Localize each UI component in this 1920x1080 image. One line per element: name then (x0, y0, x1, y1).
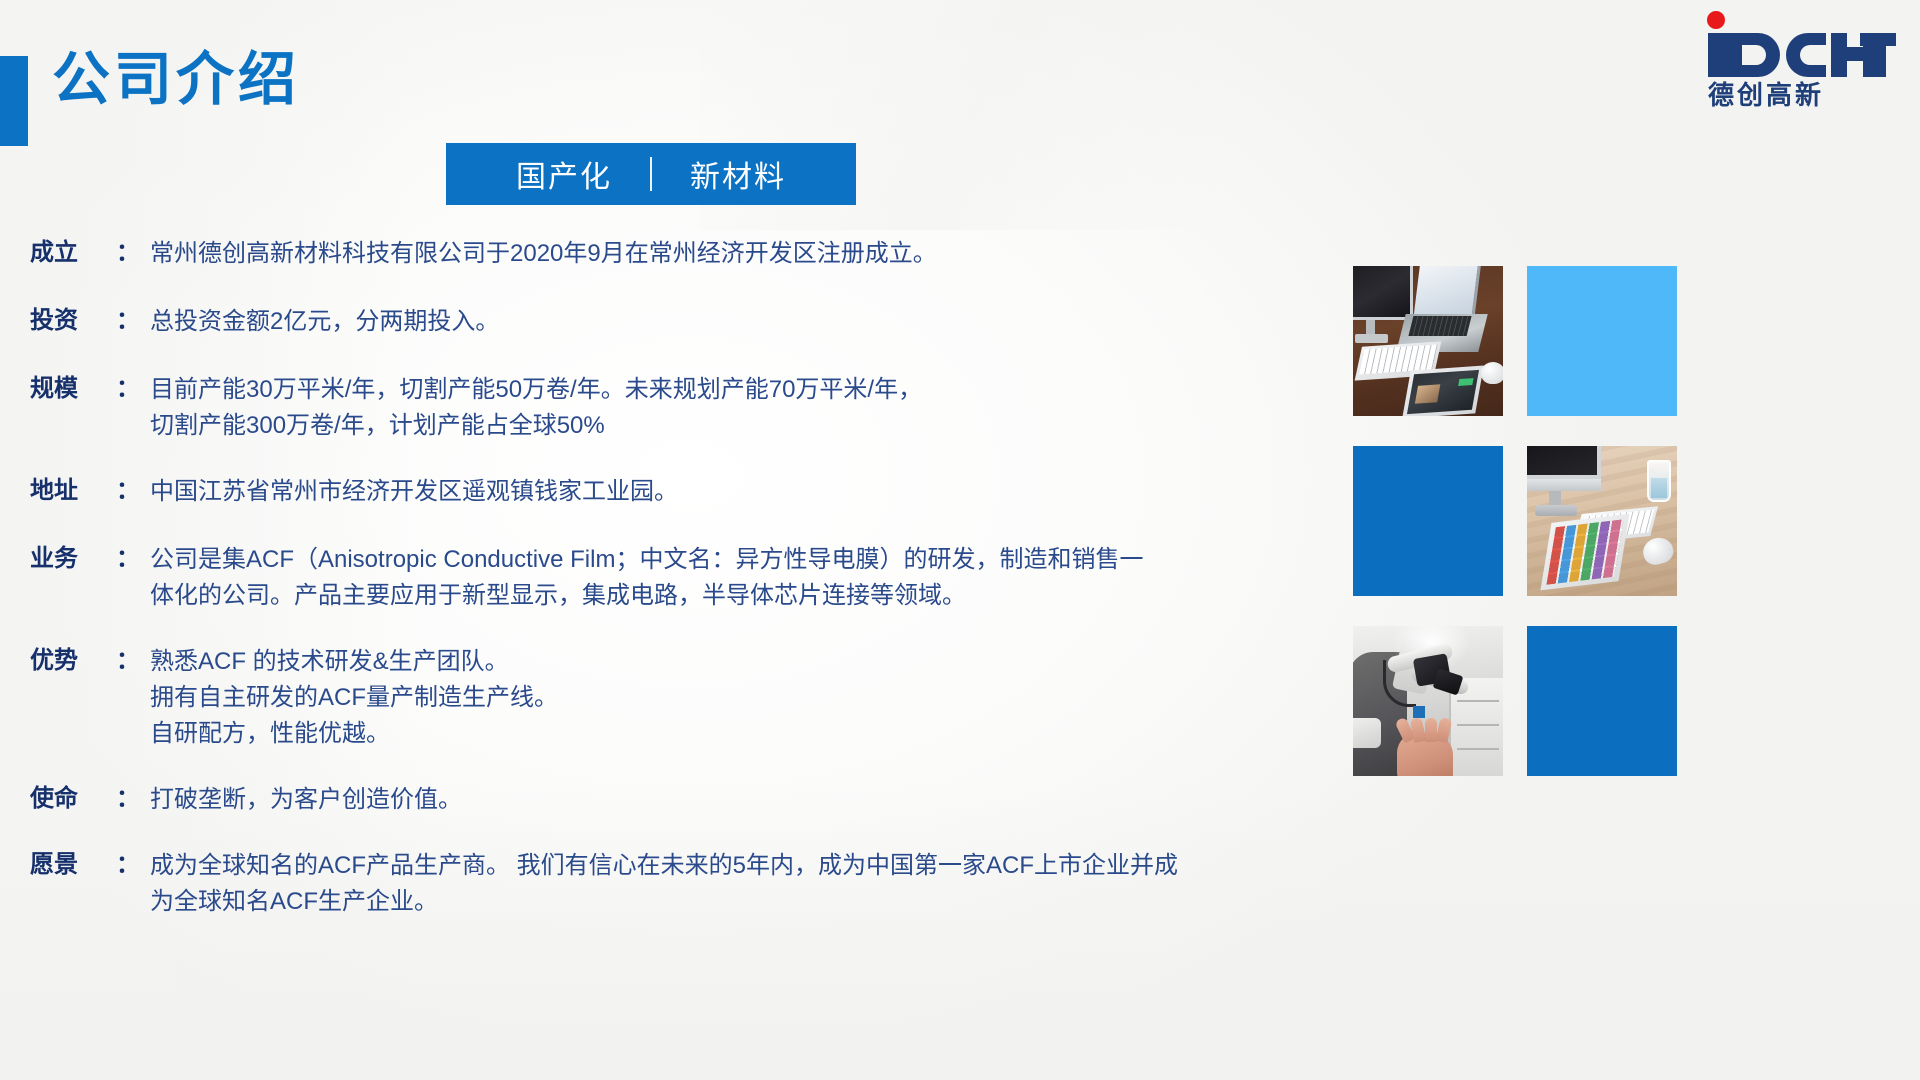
dcht-logo-icon: 德创高新 (1700, 4, 1896, 112)
desk-imac-laptop-tablet-photo (1353, 266, 1503, 416)
tablet-icon (1540, 514, 1629, 591)
info-row-colon: ： (116, 782, 150, 816)
info-row-mission: 使命 ： 打破垄断，为客户创造价值。 (30, 782, 1090, 818)
decor (1353, 718, 1381, 748)
decor (1415, 384, 1441, 403)
info-row-line: 总投资金额2亿元，分两期投入。 (150, 304, 1090, 340)
info-row-line: 拥有自主研发的ACF量产制造生产线。 (150, 680, 1090, 716)
light-blue-block (1527, 266, 1677, 416)
decor (1409, 316, 1472, 336)
info-row-colon: ： (116, 542, 150, 576)
info-row-body: 成为全球知名的ACF产品生产商。 我们有信心在未来的5年内，成为中国第一家ACF… (150, 848, 1178, 920)
water-glass-icon (1647, 460, 1671, 502)
info-row-body: 总投资金额2亿元，分两期投入。 (150, 304, 1090, 340)
info-row-line: 自研配方，性能优越。 (150, 716, 1090, 752)
decor (1458, 378, 1473, 386)
laptop-icon (1414, 266, 1482, 316)
tag-banner-right-label: 新材料 (652, 152, 824, 196)
dark-blue-block (1353, 446, 1503, 596)
info-row-body: 公司是集ACF（Anisotropic Conductive Film；中文名：… (150, 542, 1143, 614)
info-row-label: 地址 (30, 474, 116, 508)
info-row-label: 成立 (30, 236, 116, 270)
info-row-line: 打破垄断，为客户创造价值。 (150, 782, 1090, 818)
page-title: 公司介绍 (52, 48, 300, 112)
info-row-line: 切割产能300万卷/年，计划产能占全球50% (150, 408, 1090, 444)
tag-banner: 国产化 新材料 (446, 143, 856, 205)
decor (1535, 505, 1577, 516)
info-row-founding: 成立 ： 常州德创高新材料科技有限公司于2020年9月在常州经济开发区注册成立。 (30, 236, 1090, 272)
info-row-line: 成为全球知名的ACF产品生产商。 我们有信心在未来的5年内，成为中国第一家ACF… (150, 848, 1178, 884)
info-row-label: 愿景 (30, 848, 116, 882)
info-row-line: 中国江苏省常州市经济开发区遥观镇钱家工业园。 (150, 474, 1090, 510)
info-row-vision: 愿景 ： 成为全球知名的ACF产品生产商。 我们有信心在未来的5年内，成为中国第… (30, 848, 1090, 920)
info-row-line: 目前产能30万平米/年，切割产能50万卷/年。未来规划产能70万平米/年， (150, 372, 1090, 408)
info-row-colon: ： (116, 474, 150, 508)
info-row-body: 打破垄断，为客户创造价值。 (150, 782, 1090, 818)
info-row-line: 公司是集ACF（Anisotropic Conductive Film；中文名：… (150, 542, 1143, 578)
info-row-business: 业务 ： 公司是集ACF（Anisotropic Conductive Film… (30, 542, 1090, 614)
mouse-icon (1481, 362, 1503, 384)
info-row-colon: ： (116, 236, 150, 270)
tag-banner-left-label: 国产化 (478, 152, 650, 196)
decor (1527, 479, 1601, 491)
info-row-line: 熟悉ACF 的技术研发&生产团队。 (150, 644, 1090, 680)
info-row-body: 目前产能30万平米/年，切割产能50万卷/年。未来规划产能70万平米/年， 切割… (150, 372, 1090, 444)
info-row-label: 规模 (30, 372, 116, 406)
decor (1355, 334, 1388, 343)
info-row-advantages: 优势 ： 熟悉ACF 的技术研发&生产团队。 拥有自主研发的ACF量产制造生产线… (30, 644, 1090, 752)
hand-icon (1397, 732, 1453, 776)
logo-red-dot-icon (1707, 11, 1725, 29)
logo-subtext: 德创高新 (1708, 80, 1824, 110)
info-row-colon: ： (116, 644, 150, 678)
info-row-investment: 投资 ： 总投资金额2亿元，分两期投入。 (30, 304, 1090, 340)
tag-banner-separator (650, 157, 652, 191)
image-grid (1353, 266, 1853, 776)
info-row-line: 常州德创高新材料科技有限公司于2020年9月在常州经济开发区注册成立。 (150, 236, 1090, 272)
clinic-robotic-arm-hand-photo (1353, 626, 1503, 776)
imac-icon (1527, 446, 1601, 479)
info-row-label: 投资 (30, 304, 116, 338)
dark-blue-block (1527, 626, 1677, 776)
company-logo: 德创高新 (1700, 4, 1896, 112)
info-row-body: 熟悉ACF 的技术研发&生产团队。 拥有自主研发的ACF量产制造生产线。 自研配… (150, 644, 1090, 752)
tablet-icon (1402, 366, 1484, 416)
info-row-label: 使命 (30, 782, 116, 816)
decor (1413, 706, 1425, 718)
info-row-colon: ： (116, 372, 150, 406)
info-row-colon: ： (116, 304, 150, 338)
info-row-line: 体化的公司。产品主要应用于新型显示，集成电路，半导体芯片连接等领域。 (150, 578, 1143, 614)
info-row-address: 地址 ： 中国江苏省常州市经济开发区遥观镇钱家工业园。 (30, 474, 1090, 510)
info-row-label: 优势 (30, 644, 116, 678)
mouse-icon (1640, 534, 1676, 567)
info-row-label: 业务 (30, 542, 116, 576)
title-accent-bar (0, 56, 28, 146)
desk-imac-keyboard-tablet-photo (1527, 446, 1677, 596)
imac-icon (1353, 266, 1413, 320)
slide-root: 公司介绍 德创高新 国产化 新材料 成立 (0, 0, 1920, 1080)
info-row-colon: ： (116, 848, 150, 882)
decor (1546, 519, 1623, 585)
info-row-scale: 规模 ： 目前产能30万平米/年，切割产能50万卷/年。未来规划产能70万平米/… (30, 372, 1090, 444)
info-row-line: 为全球知名ACF生产企业。 (150, 884, 1178, 920)
content-list: 成立 ： 常州德创高新材料科技有限公司于2020年9月在常州经济开发区注册成立。… (30, 236, 1090, 920)
info-row-body: 中国江苏省常州市经济开发区遥观镇钱家工业园。 (150, 474, 1090, 510)
info-row-body: 常州德创高新材料科技有限公司于2020年9月在常州经济开发区注册成立。 (150, 236, 1090, 272)
